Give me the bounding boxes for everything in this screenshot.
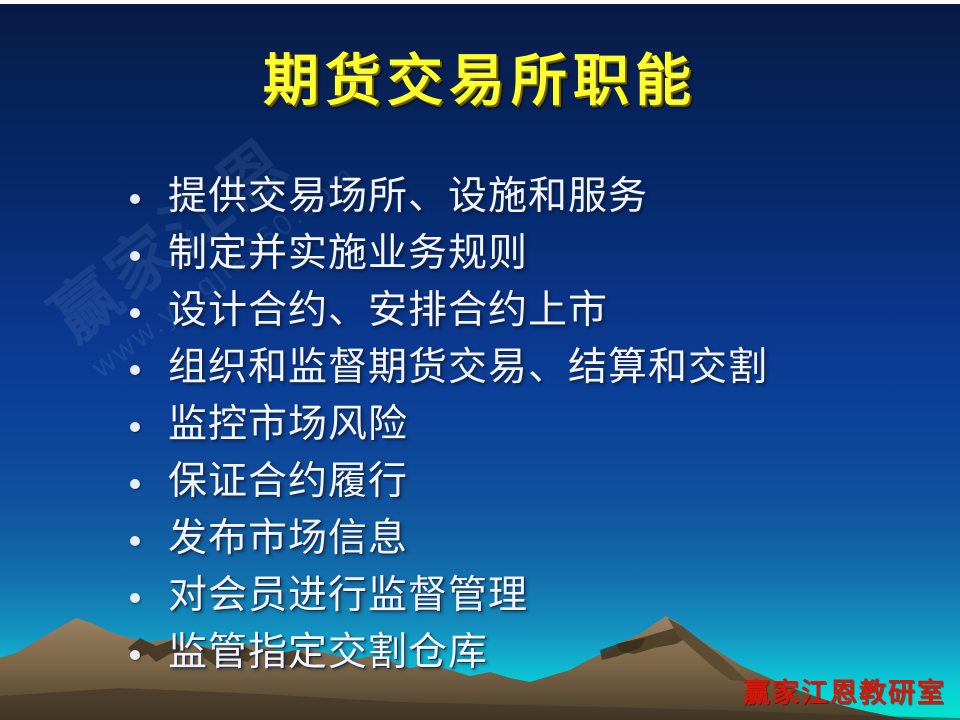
list-item-label: 监管指定交割仓库 [168, 631, 488, 674]
corner-watermark: 赢家江恩教研室 [743, 671, 946, 710]
list-item: 组织和监督期货交易、结算和交割 [118, 341, 918, 398]
list-item: 对会员进行监督管理 [118, 569, 918, 626]
list-item-label: 监控市场风险 [168, 403, 408, 446]
list-item-label: 提供交易场所、设施和服务 [168, 175, 648, 218]
list-item: 发布市场信息 [118, 512, 918, 569]
list-item: 设计合约、安排合约上市 [118, 284, 918, 341]
list-item-label: 组织和监督期货交易、结算和交割 [168, 346, 768, 389]
bullet-dot-icon [130, 536, 140, 546]
bullet-dot-icon [130, 593, 140, 603]
top-light-band [0, 0, 960, 4]
bullet-list: 提供交易场所、设施和服务 制定并实施业务规则 设计合约、安排合约上市 组织和监督… [118, 170, 918, 683]
bullet-dot-icon [130, 650, 140, 660]
bullet-dot-icon [130, 365, 140, 375]
slide-title: 期货交易所职能 [0, 52, 960, 114]
list-item-label: 制定并实施业务规则 [168, 232, 528, 275]
list-item: 提供交易场所、设施和服务 [118, 170, 918, 227]
bullet-dot-icon [130, 308, 140, 318]
presentation-slide: 赢家江恩 www.yingjia360.com 期货交易所职能 [0, 0, 960, 720]
list-item-label: 发布市场信息 [168, 517, 408, 560]
bullet-dot-icon [130, 251, 140, 261]
list-item-label: 对会员进行监督管理 [168, 574, 528, 617]
bullet-dot-icon [130, 422, 140, 432]
list-item-label: 设计合约、安排合约上市 [168, 289, 608, 332]
list-item: 监控市场风险 [118, 398, 918, 455]
bullet-dot-icon [130, 194, 140, 204]
list-item: 保证合约履行 [118, 455, 918, 512]
list-item: 制定并实施业务规则 [118, 227, 918, 284]
list-item-label: 保证合约履行 [168, 460, 408, 503]
bullet-dot-icon [130, 479, 140, 489]
